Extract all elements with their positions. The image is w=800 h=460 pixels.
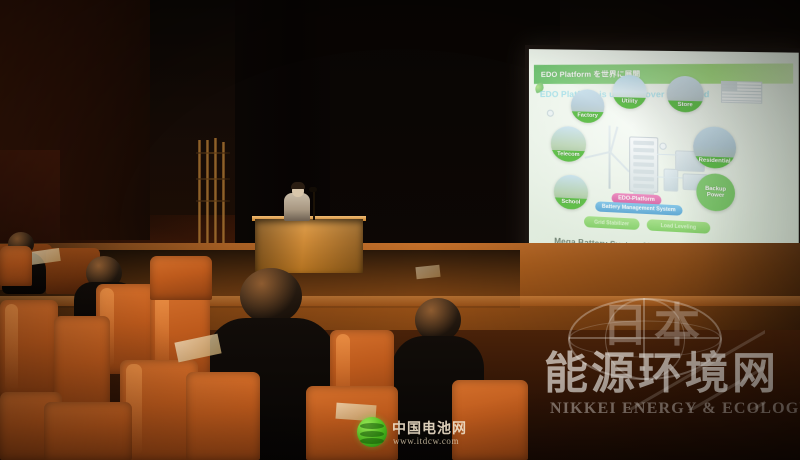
battery-rack-graphic <box>629 136 658 193</box>
logo-chinese-text: 中国电池网 <box>392 418 467 438</box>
wind-turbine-graphic <box>609 126 611 189</box>
turbine-blade <box>610 152 630 173</box>
node-telecom: Telecom <box>551 126 586 163</box>
stage-rigging-crossbar <box>196 152 230 154</box>
us-flag-graphic <box>721 81 762 104</box>
node-utility: Utility <box>613 75 647 110</box>
slide-content: EDO Platform を世界に展開 EDO Platform is used… <box>529 49 799 271</box>
node-store: Store <box>667 76 704 113</box>
node-label: Telecom <box>551 150 586 163</box>
button-label: Load Leveling <box>661 222 697 230</box>
connection-node <box>547 110 554 117</box>
slide-button-load-leveling: Load Leveling <box>647 219 710 234</box>
node-school: School <box>554 174 588 210</box>
logo-url-text: www.itdcw.com <box>393 436 459 446</box>
watermark-itdcw-logo: 中国电池网 www.itdcw.com <box>357 412 467 452</box>
stage-rigging-pole <box>214 138 217 245</box>
equipment-graphic <box>664 168 679 191</box>
green-globe-logo-icon <box>357 417 387 447</box>
platform-sublabel: Battery Management System <box>602 204 676 214</box>
node-label: Residential <box>693 156 736 169</box>
speaker-hair <box>291 182 305 189</box>
stage-rigging-crossbar <box>196 178 230 180</box>
speaker-body <box>284 193 310 221</box>
node-label: School <box>554 197 588 210</box>
stage-rigging-crossbar <box>196 200 230 202</box>
turbine-blade <box>585 151 611 158</box>
node-label: Store <box>667 100 704 112</box>
platform-subtitle-badge: Battery Management System <box>595 201 682 215</box>
stage-rigging-pole <box>222 142 225 245</box>
node-label: Backup Power <box>696 184 735 212</box>
slide-button-grid-stabilizer: Grid Stabilizer <box>584 216 639 230</box>
node-label: Factory <box>571 111 605 123</box>
seat <box>186 372 260 460</box>
node-backup-power: Backup Power <box>696 173 735 212</box>
conference-photo: EDO Platform を世界に展開 EDO Platform is used… <box>0 0 800 460</box>
button-label: Grid Stabilizer <box>594 219 629 227</box>
microphone-icon <box>309 187 317 192</box>
microphone-stand <box>313 190 315 220</box>
connection-node <box>659 143 666 150</box>
node-label: Utility <box>613 97 647 109</box>
connection-line <box>657 154 678 156</box>
stage-rigging-pole <box>198 140 201 245</box>
stage-rigging-pole <box>206 140 209 245</box>
node-residential: Residential <box>693 126 736 169</box>
seat <box>0 246 32 286</box>
handout-paper <box>415 265 440 279</box>
seat <box>44 402 132 460</box>
watermark-diagonal-lines <box>555 318 765 410</box>
node-factory: Factory <box>571 89 605 123</box>
turbine-blade <box>610 126 618 152</box>
seat <box>150 256 212 300</box>
